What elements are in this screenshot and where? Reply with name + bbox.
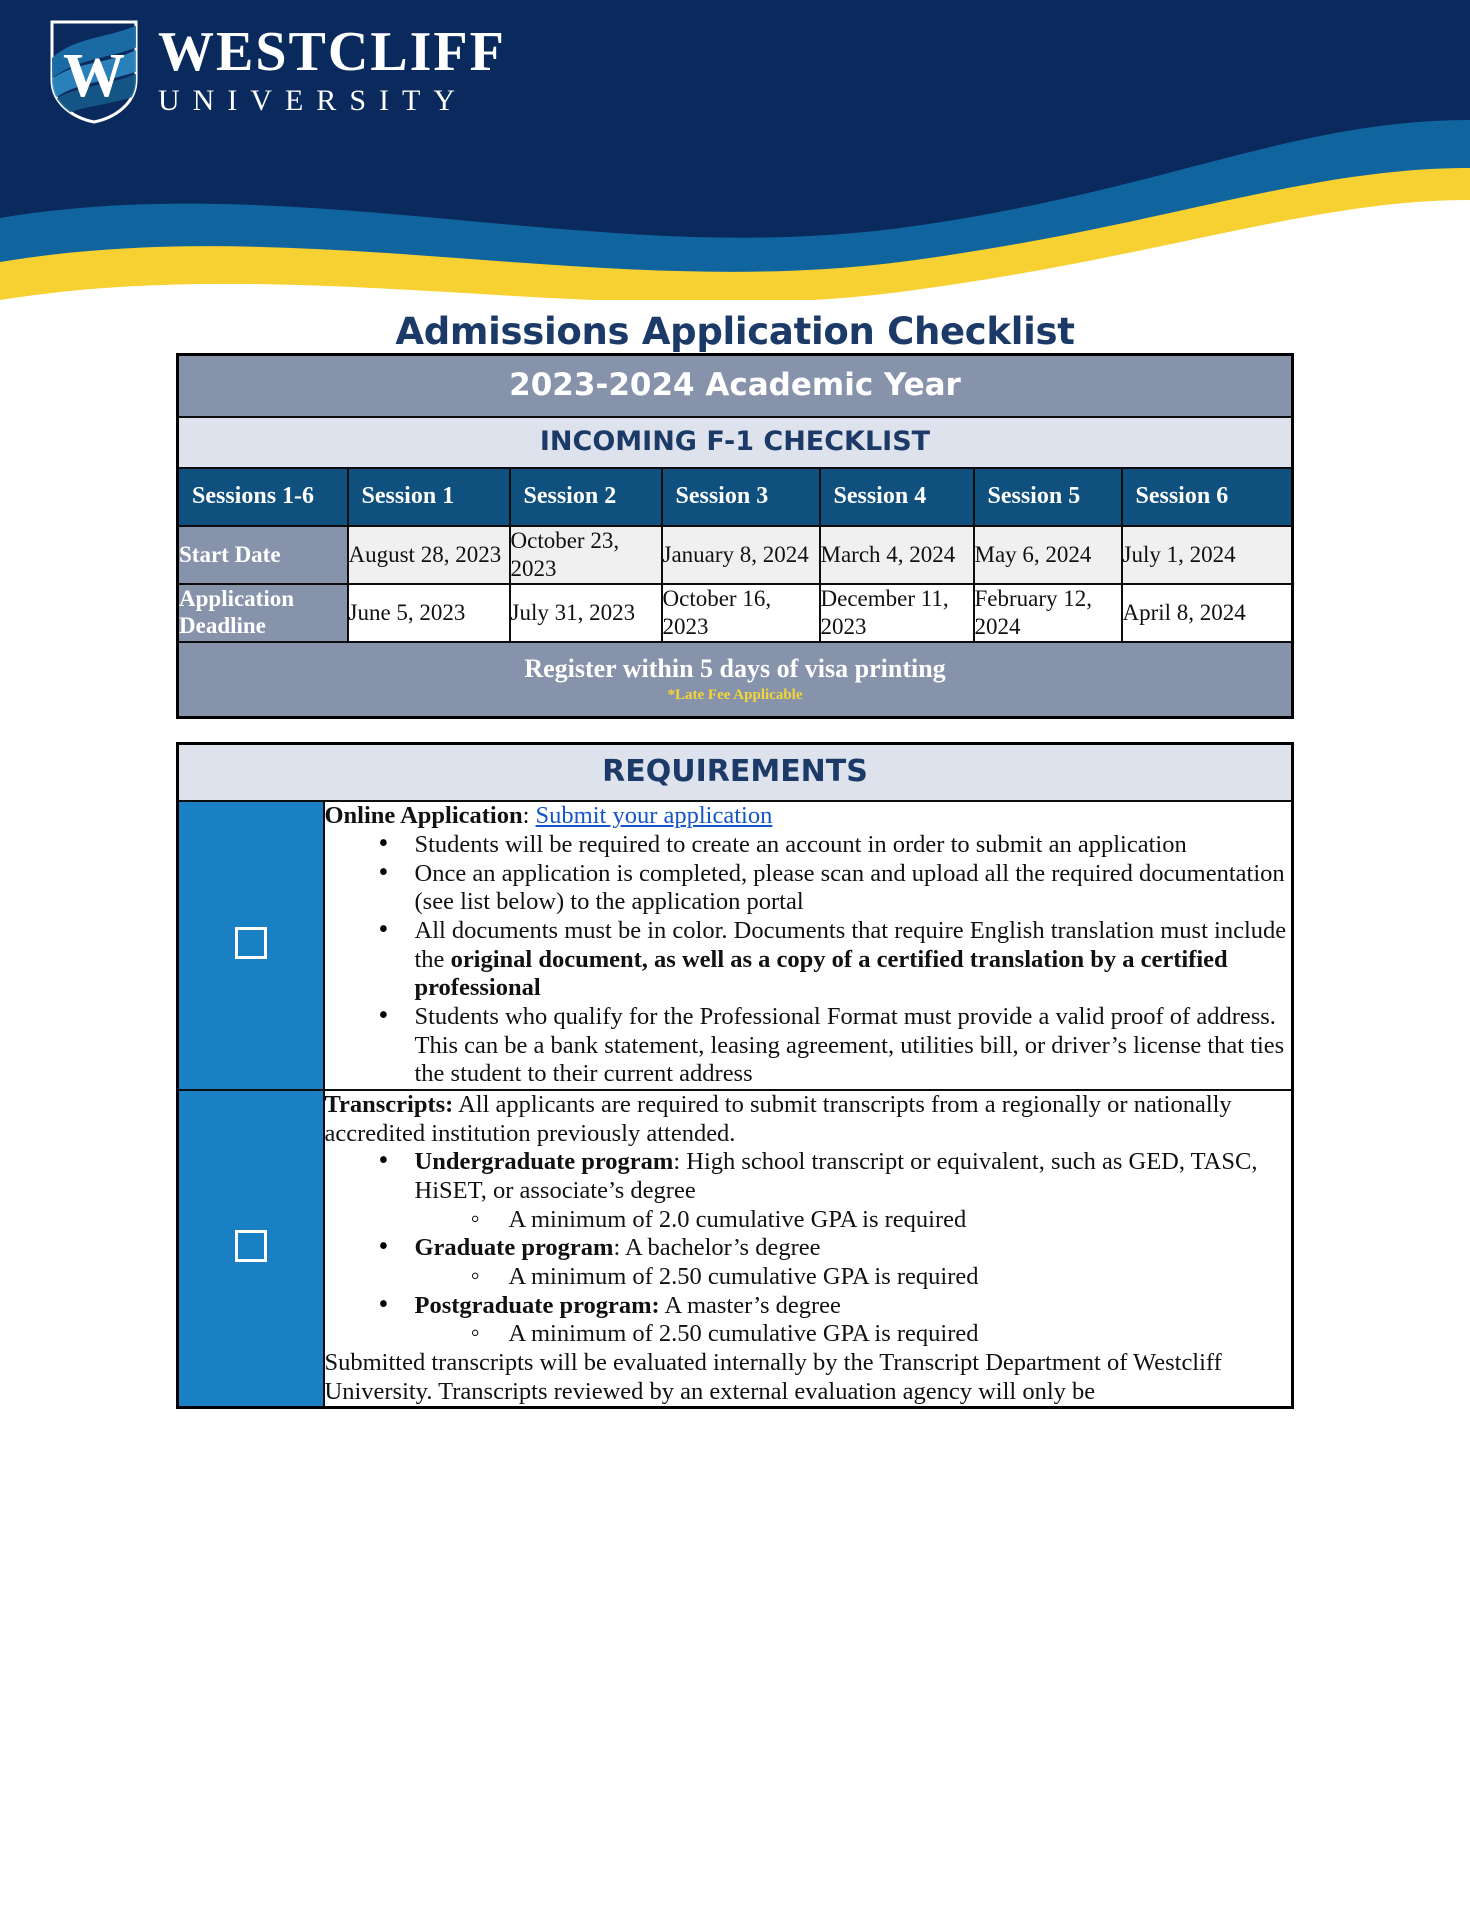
deadline-session-6: April 8, 2024 bbox=[1122, 584, 1293, 642]
transcripts-title: Transcripts: bbox=[325, 1091, 454, 1118]
late-fee-note: *Late Fee Applicable bbox=[179, 687, 1291, 704]
list-item: Students who qualify for the Professiona… bbox=[373, 1003, 1292, 1089]
start-date-session-1: August 28, 2023 bbox=[348, 526, 510, 584]
requirement-row-transcripts: Transcripts: All applicants are required… bbox=[178, 1090, 1293, 1408]
academic-year-row: 2023-2024 Academic Year bbox=[178, 355, 1293, 418]
requirements-header-row: REQUIREMENTS bbox=[178, 744, 1293, 802]
online-application-title: Online Application bbox=[325, 802, 523, 829]
sub-bullets: A minimum of 2.0 cumulative GPA is requi… bbox=[415, 1206, 1292, 1235]
start-date-row: Start Date August 28, 2023 October 23, 2… bbox=[178, 526, 1293, 584]
bullet-bold-lead: Postgraduate program: bbox=[415, 1292, 660, 1319]
registration-note-row: Register within 5 days of visa printing … bbox=[178, 642, 1293, 718]
sub-bullet-text: A minimum of 2.50 cumulative GPA is requ… bbox=[509, 1320, 979, 1347]
column-header-session-4: Session 4 bbox=[820, 468, 974, 526]
start-date-session-4: March 4, 2024 bbox=[820, 526, 974, 584]
online-application-lead: Online Application: Submit your applicat… bbox=[325, 802, 1292, 831]
requirement-body-transcripts: Transcripts: All applicants are required… bbox=[324, 1090, 1293, 1408]
submit-application-link[interactable]: Submit your application bbox=[536, 802, 773, 829]
requirements-heading: REQUIREMENTS bbox=[178, 744, 1293, 802]
deadline-session-5: February 12, 2024 bbox=[974, 584, 1122, 642]
checklist-title-label: INCOMING F-1 CHECKLIST bbox=[178, 417, 1293, 468]
checkbox-cell-online-application[interactable] bbox=[178, 801, 324, 1090]
row-label-application-deadline: Application Deadline bbox=[178, 584, 348, 642]
deadline-session-2: July 31, 2023 bbox=[510, 584, 662, 642]
row-label-start-date: Start Date bbox=[178, 526, 348, 584]
list-item: A minimum of 2.50 cumulative GPA is requ… bbox=[467, 1320, 1292, 1349]
bullet-text: Students will be required to create an a… bbox=[415, 831, 1187, 858]
requirement-row-online-application: Online Application: Submit your applicat… bbox=[178, 801, 1293, 1090]
bullet-bold-lead: Undergraduate program bbox=[415, 1148, 674, 1175]
bullet-text: A master’s degree bbox=[660, 1292, 841, 1319]
deadline-session-1: June 5, 2023 bbox=[348, 584, 510, 642]
column-header-sessions-1-6: Sessions 1-6 bbox=[178, 468, 348, 526]
bullet-text: Once an application is completed, please… bbox=[415, 860, 1285, 916]
column-header-session-1: Session 1 bbox=[348, 468, 510, 526]
bullet-bold-lead: Graduate program bbox=[415, 1234, 614, 1261]
list-item: Postgraduate program: A master’s degree … bbox=[373, 1292, 1292, 1349]
transcripts-lead-text: All applicants are required to submit tr… bbox=[325, 1091, 1232, 1147]
checkbox-online-application[interactable] bbox=[235, 927, 267, 959]
shield-icon: W bbox=[48, 18, 140, 126]
checklist-title-row: INCOMING F-1 CHECKLIST bbox=[178, 417, 1293, 468]
page-title: Admissions Application Checklist bbox=[0, 300, 1470, 353]
list-item: Once an application is completed, please… bbox=[373, 860, 1292, 917]
column-header-session-3: Session 3 bbox=[662, 468, 820, 526]
sub-bullet-text: A minimum of 2.0 cumulative GPA is requi… bbox=[509, 1206, 967, 1233]
online-application-sep: : bbox=[523, 802, 536, 829]
transcripts-bullets: Undergraduate program: High school trans… bbox=[325, 1148, 1292, 1349]
transcripts-tail-paragraph: Submitted transcripts will be evaluated … bbox=[325, 1349, 1292, 1406]
bullet-text: Students who qualify for the Professiona… bbox=[415, 1003, 1285, 1087]
column-header-session-5: Session 5 bbox=[974, 468, 1122, 526]
registration-note-main: Register within 5 days of visa printing bbox=[179, 653, 1291, 684]
academic-year-label: 2023-2024 Academic Year bbox=[178, 355, 1293, 418]
westcliff-logo: W WESTCLIFF UNIVERSITY bbox=[48, 18, 506, 126]
requirements-table: REQUIREMENTS Online Application: Submit … bbox=[176, 742, 1294, 1409]
start-date-session-2: October 23, 2023 bbox=[510, 526, 662, 584]
page-header-banner: W WESTCLIFF UNIVERSITY bbox=[0, 0, 1470, 300]
list-item: Undergraduate program: High school trans… bbox=[373, 1148, 1292, 1234]
sub-bullets: A minimum of 2.50 cumulative GPA is requ… bbox=[415, 1263, 1292, 1292]
column-header-session-2: Session 2 bbox=[510, 468, 662, 526]
deadline-session-4: December 11, 2023 bbox=[820, 584, 974, 642]
start-date-session-3: January 8, 2024 bbox=[662, 526, 820, 584]
start-date-session-5: May 6, 2024 bbox=[974, 526, 1122, 584]
requirement-body-online-application: Online Application: Submit your applicat… bbox=[324, 801, 1293, 1090]
list-item: A minimum of 2.0 cumulative GPA is requi… bbox=[467, 1206, 1292, 1235]
list-item: Students will be required to create an a… bbox=[373, 831, 1292, 860]
online-application-bullets: Students will be required to create an a… bbox=[325, 831, 1292, 1089]
session-header-row: Sessions 1-6 Session 1 Session 2 Session… bbox=[178, 468, 1293, 526]
checkbox-transcripts[interactable] bbox=[235, 1230, 267, 1262]
bullet-text-bold: original document, as well as a copy of … bbox=[415, 946, 1228, 1002]
list-item: A minimum of 2.50 cumulative GPA is requ… bbox=[467, 1263, 1292, 1292]
list-item: Graduate program: A bachelor’s degree A … bbox=[373, 1234, 1292, 1291]
brand-name-bottom: UNIVERSITY bbox=[158, 86, 506, 116]
application-deadline-row: Application Deadline June 5, 2023 July 3… bbox=[178, 584, 1293, 642]
sub-bullets: A minimum of 2.50 cumulative GPA is requ… bbox=[415, 1320, 1292, 1349]
transcripts-lead: Transcripts: All applicants are required… bbox=[325, 1091, 1292, 1148]
start-date-session-6: July 1, 2024 bbox=[1122, 526, 1293, 584]
svg-text:W: W bbox=[63, 42, 125, 110]
sub-bullet-text: A minimum of 2.50 cumulative GPA is requ… bbox=[509, 1263, 979, 1290]
brand-name-top: WESTCLIFF bbox=[158, 24, 506, 80]
deadline-session-3: October 16, 2023 bbox=[662, 584, 820, 642]
bullet-text: : A bachelor’s degree bbox=[613, 1234, 820, 1261]
column-header-session-6: Session 6 bbox=[1122, 468, 1293, 526]
session-schedule-table: 2023-2024 Academic Year INCOMING F-1 CHE… bbox=[176, 353, 1294, 719]
checkbox-cell-transcripts[interactable] bbox=[178, 1090, 324, 1408]
list-item: All documents must be in color. Document… bbox=[373, 917, 1292, 1003]
